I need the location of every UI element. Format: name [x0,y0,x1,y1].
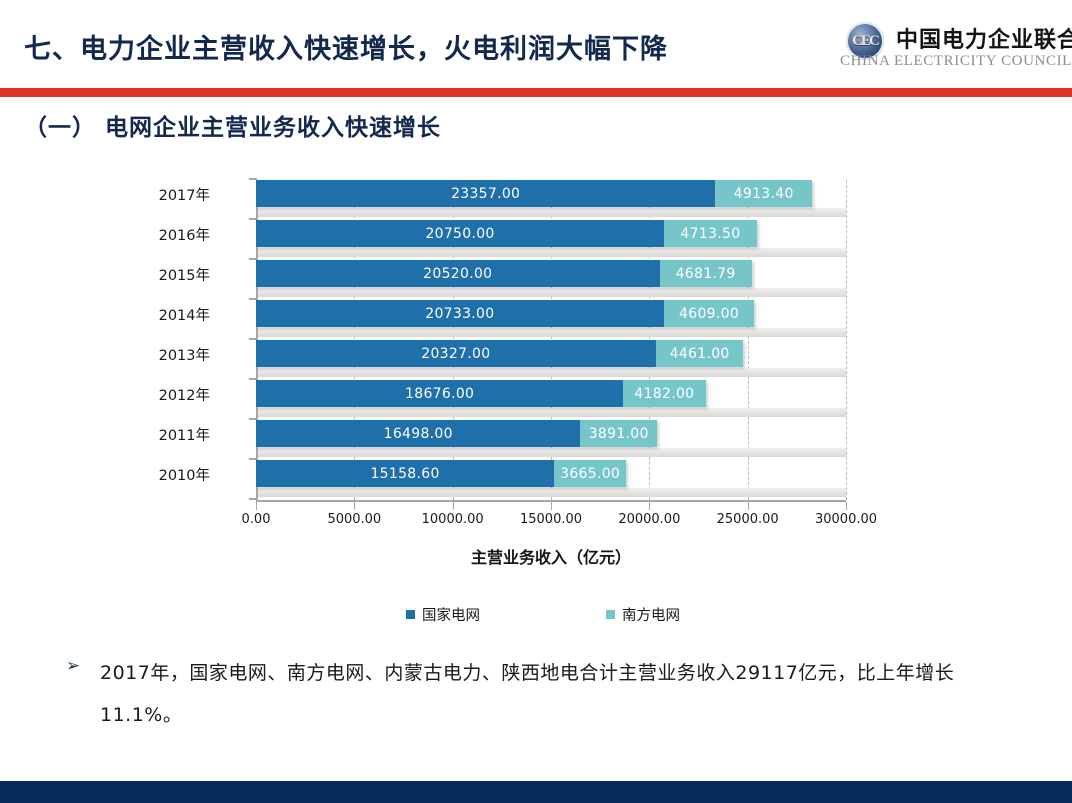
bar-segment-china-southern-grid: 3665.00 [554,460,626,487]
y-axis-tick [249,498,257,500]
y-axis-tick [249,378,257,380]
chart-x-axis-title: 主营业务收入（亿元） [256,544,846,568]
summary-bullet-text: 2017年，国家电网、南方电网、内蒙古电力、陕西地电合计主营业务收入29117亿… [66,652,1026,736]
x-tick-label: 10000.00 [422,512,484,527]
bar-segment-china-southern-grid: 4609.00 [664,300,755,327]
bar-segment-state-grid: 20750.00 [256,220,664,247]
logo-english-name: CHINA ELECTRICITY COUNCIL [840,53,1072,70]
x-axis-tick [748,502,749,510]
y-axis-tick [249,178,257,180]
red-divider [0,88,1072,97]
row-band [258,328,846,337]
bar-segment-state-grid: 20327.00 [256,340,656,367]
x-axis-tick [354,502,355,510]
x-axis-tick [453,502,454,510]
x-axis-tick [256,502,257,510]
x-tick-label: 20000.00 [618,512,680,527]
summary-bullet: ➢ 2017年，国家电网、南方电网、内蒙古电力、陕西地电合计主营业务收入2911… [66,652,1026,736]
row-band [258,368,846,377]
y-axis-tick [249,298,257,300]
x-tick-label: 5000.00 [327,512,381,527]
x-tick-label: 30000.00 [815,512,877,527]
chart-legend: 国家电网南方电网 [256,604,846,626]
table-row: 20750.004713.50 [186,220,886,247]
section-subtitle: （一） 电网企业主营业务收入快速增长 [24,108,441,142]
bar-segment-china-southern-grid: 4182.00 [623,380,705,407]
revenue-stacked-bar-chart: 2017年23357.004913.402016年20750.004713.50… [186,172,886,642]
bar-segment-china-southern-grid: 4913.40 [715,180,812,207]
bar-segment-state-grid: 16498.00 [256,420,580,447]
bar-segment-state-grid: 18676.00 [256,380,623,407]
y-axis-tick [249,218,257,220]
bar-segment-state-grid: 15158.60 [256,460,554,487]
bar-segment-china-southern-grid: 4713.50 [664,220,757,247]
page-title: 七、电力企业主营收入快速增长，火电利润大幅下降 [24,27,668,66]
organization-logo: CEC 中国电力企业联合会 CHINA ELECTRICITY COUNCIL [834,20,1064,80]
row-band [258,488,846,497]
y-axis-tick [249,418,257,420]
table-row: 20520.004681.79 [186,260,886,287]
row-band [258,208,846,217]
legend-swatch-icon [606,610,615,619]
y-axis-tick [249,338,257,340]
bar-segment-state-grid: 20733.00 [256,300,664,327]
bar-segment-china-southern-grid: 4681.79 [660,260,752,287]
logo-chinese-name: 中国电力企业联合会 [896,22,1072,54]
bar-segment-china-southern-grid: 3891.00 [580,420,657,447]
bar-segment-state-grid: 23357.00 [256,180,715,207]
row-band [258,288,846,297]
bar-segment-state-grid: 20520.00 [256,260,660,287]
slide-header: 七、电力企业主营收入快速增长，火电利润大幅下降 CEC 中国电力企业联合会 CH… [0,0,1072,88]
legend-item[interactable]: 南方电网 [606,604,680,625]
row-band [258,248,846,257]
y-axis-tick [249,458,257,460]
x-axis-tick [551,502,552,510]
table-row: 15158.603665.00 [186,460,886,487]
legend-label: 南方电网 [622,604,680,625]
row-band [258,448,846,457]
bullet-arrow-icon: ➢ [66,656,80,676]
legend-label: 国家电网 [422,604,480,625]
row-band [258,408,846,417]
table-row: 20327.004461.00 [186,340,886,367]
slide: 七、电力企业主营收入快速增长，火电利润大幅下降 CEC 中国电力企业联合会 CH… [0,0,1072,803]
table-row: 18676.004182.00 [186,380,886,407]
y-axis-tick [249,258,257,260]
legend-swatch-icon [406,610,415,619]
x-tick-label: 25000.00 [717,512,779,527]
x-tick-label: 0.00 [242,512,271,527]
footer-bar [0,781,1072,803]
table-row: 20733.004609.00 [186,300,886,327]
x-axis-tick [649,502,650,510]
bar-segment-china-southern-grid: 4461.00 [656,340,744,367]
x-axis-tick [846,502,847,510]
legend-item[interactable]: 国家电网 [406,604,480,625]
table-row: 23357.004913.40 [186,180,886,207]
x-tick-label: 15000.00 [520,512,582,527]
table-row: 16498.003891.00 [186,420,886,447]
